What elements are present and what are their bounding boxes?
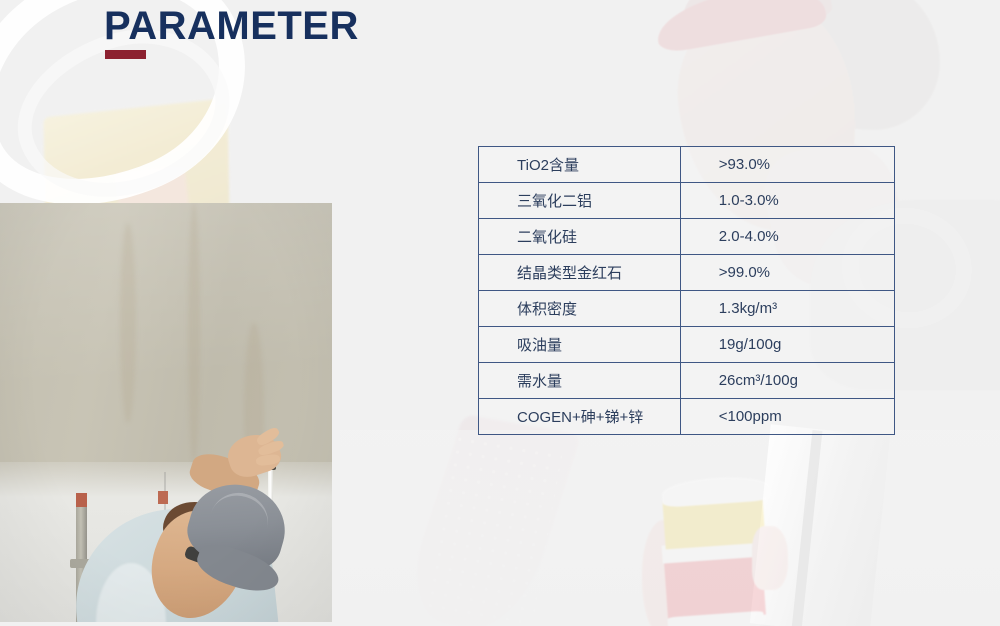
specification-table-body: TiO2含量 >93.0% 三氧化二铝 1.0-3.0% 二氧化硅 2.0-4.… (479, 147, 895, 435)
spec-name: COGEN+砷+锑+锌 (479, 399, 681, 435)
table-row: 结晶类型金红石 >99.0% (479, 255, 895, 291)
spec-value: 19g/100g (680, 327, 894, 363)
table-row: TiO2含量 >93.0% (479, 147, 895, 183)
spec-name: 结晶类型金红石 (479, 255, 681, 291)
background-hand-right (752, 526, 788, 590)
spec-value: 1.3kg/m³ (680, 291, 894, 327)
spec-name: 吸油量 (479, 327, 681, 363)
spec-name: 三氧化二铝 (479, 183, 681, 219)
spec-value: 2.0-4.0% (680, 219, 894, 255)
table-row: 三氧化二铝 1.0-3.0% (479, 183, 895, 219)
specification-table: TiO2含量 >93.0% 三氧化二铝 1.0-3.0% 二氧化硅 2.0-4.… (478, 146, 895, 435)
title-underline-rule (105, 50, 146, 59)
parameter-page: PARAMETER (0, 0, 1000, 626)
spec-value: >93.0% (680, 147, 894, 183)
background-paint-bucket (640, 460, 800, 626)
worker-photo (0, 203, 332, 622)
table-row: 体积密度 1.3kg/m³ (479, 291, 895, 327)
title-block: PARAMETER (104, 2, 359, 50)
table-row: COGEN+砷+锑+锌 <100ppm (479, 399, 895, 435)
table-row: 吸油量 19g/100g (479, 327, 895, 363)
spec-name: 体积密度 (479, 291, 681, 327)
spec-name: TiO2含量 (479, 147, 681, 183)
spec-value: >99.0% (680, 255, 894, 291)
spec-value: 26cm³/100g (680, 363, 894, 399)
table-row: 需水量 26cm³/100g (479, 363, 895, 399)
page-title: PARAMETER (104, 2, 359, 50)
table-row: 二氧化硅 2.0-4.0% (479, 219, 895, 255)
spec-value: 1.0-3.0% (680, 183, 894, 219)
spec-name: 需水量 (479, 363, 681, 399)
spec-name: 二氧化硅 (479, 219, 681, 255)
photo-vignette (0, 203, 332, 622)
spec-value: <100ppm (680, 399, 894, 435)
